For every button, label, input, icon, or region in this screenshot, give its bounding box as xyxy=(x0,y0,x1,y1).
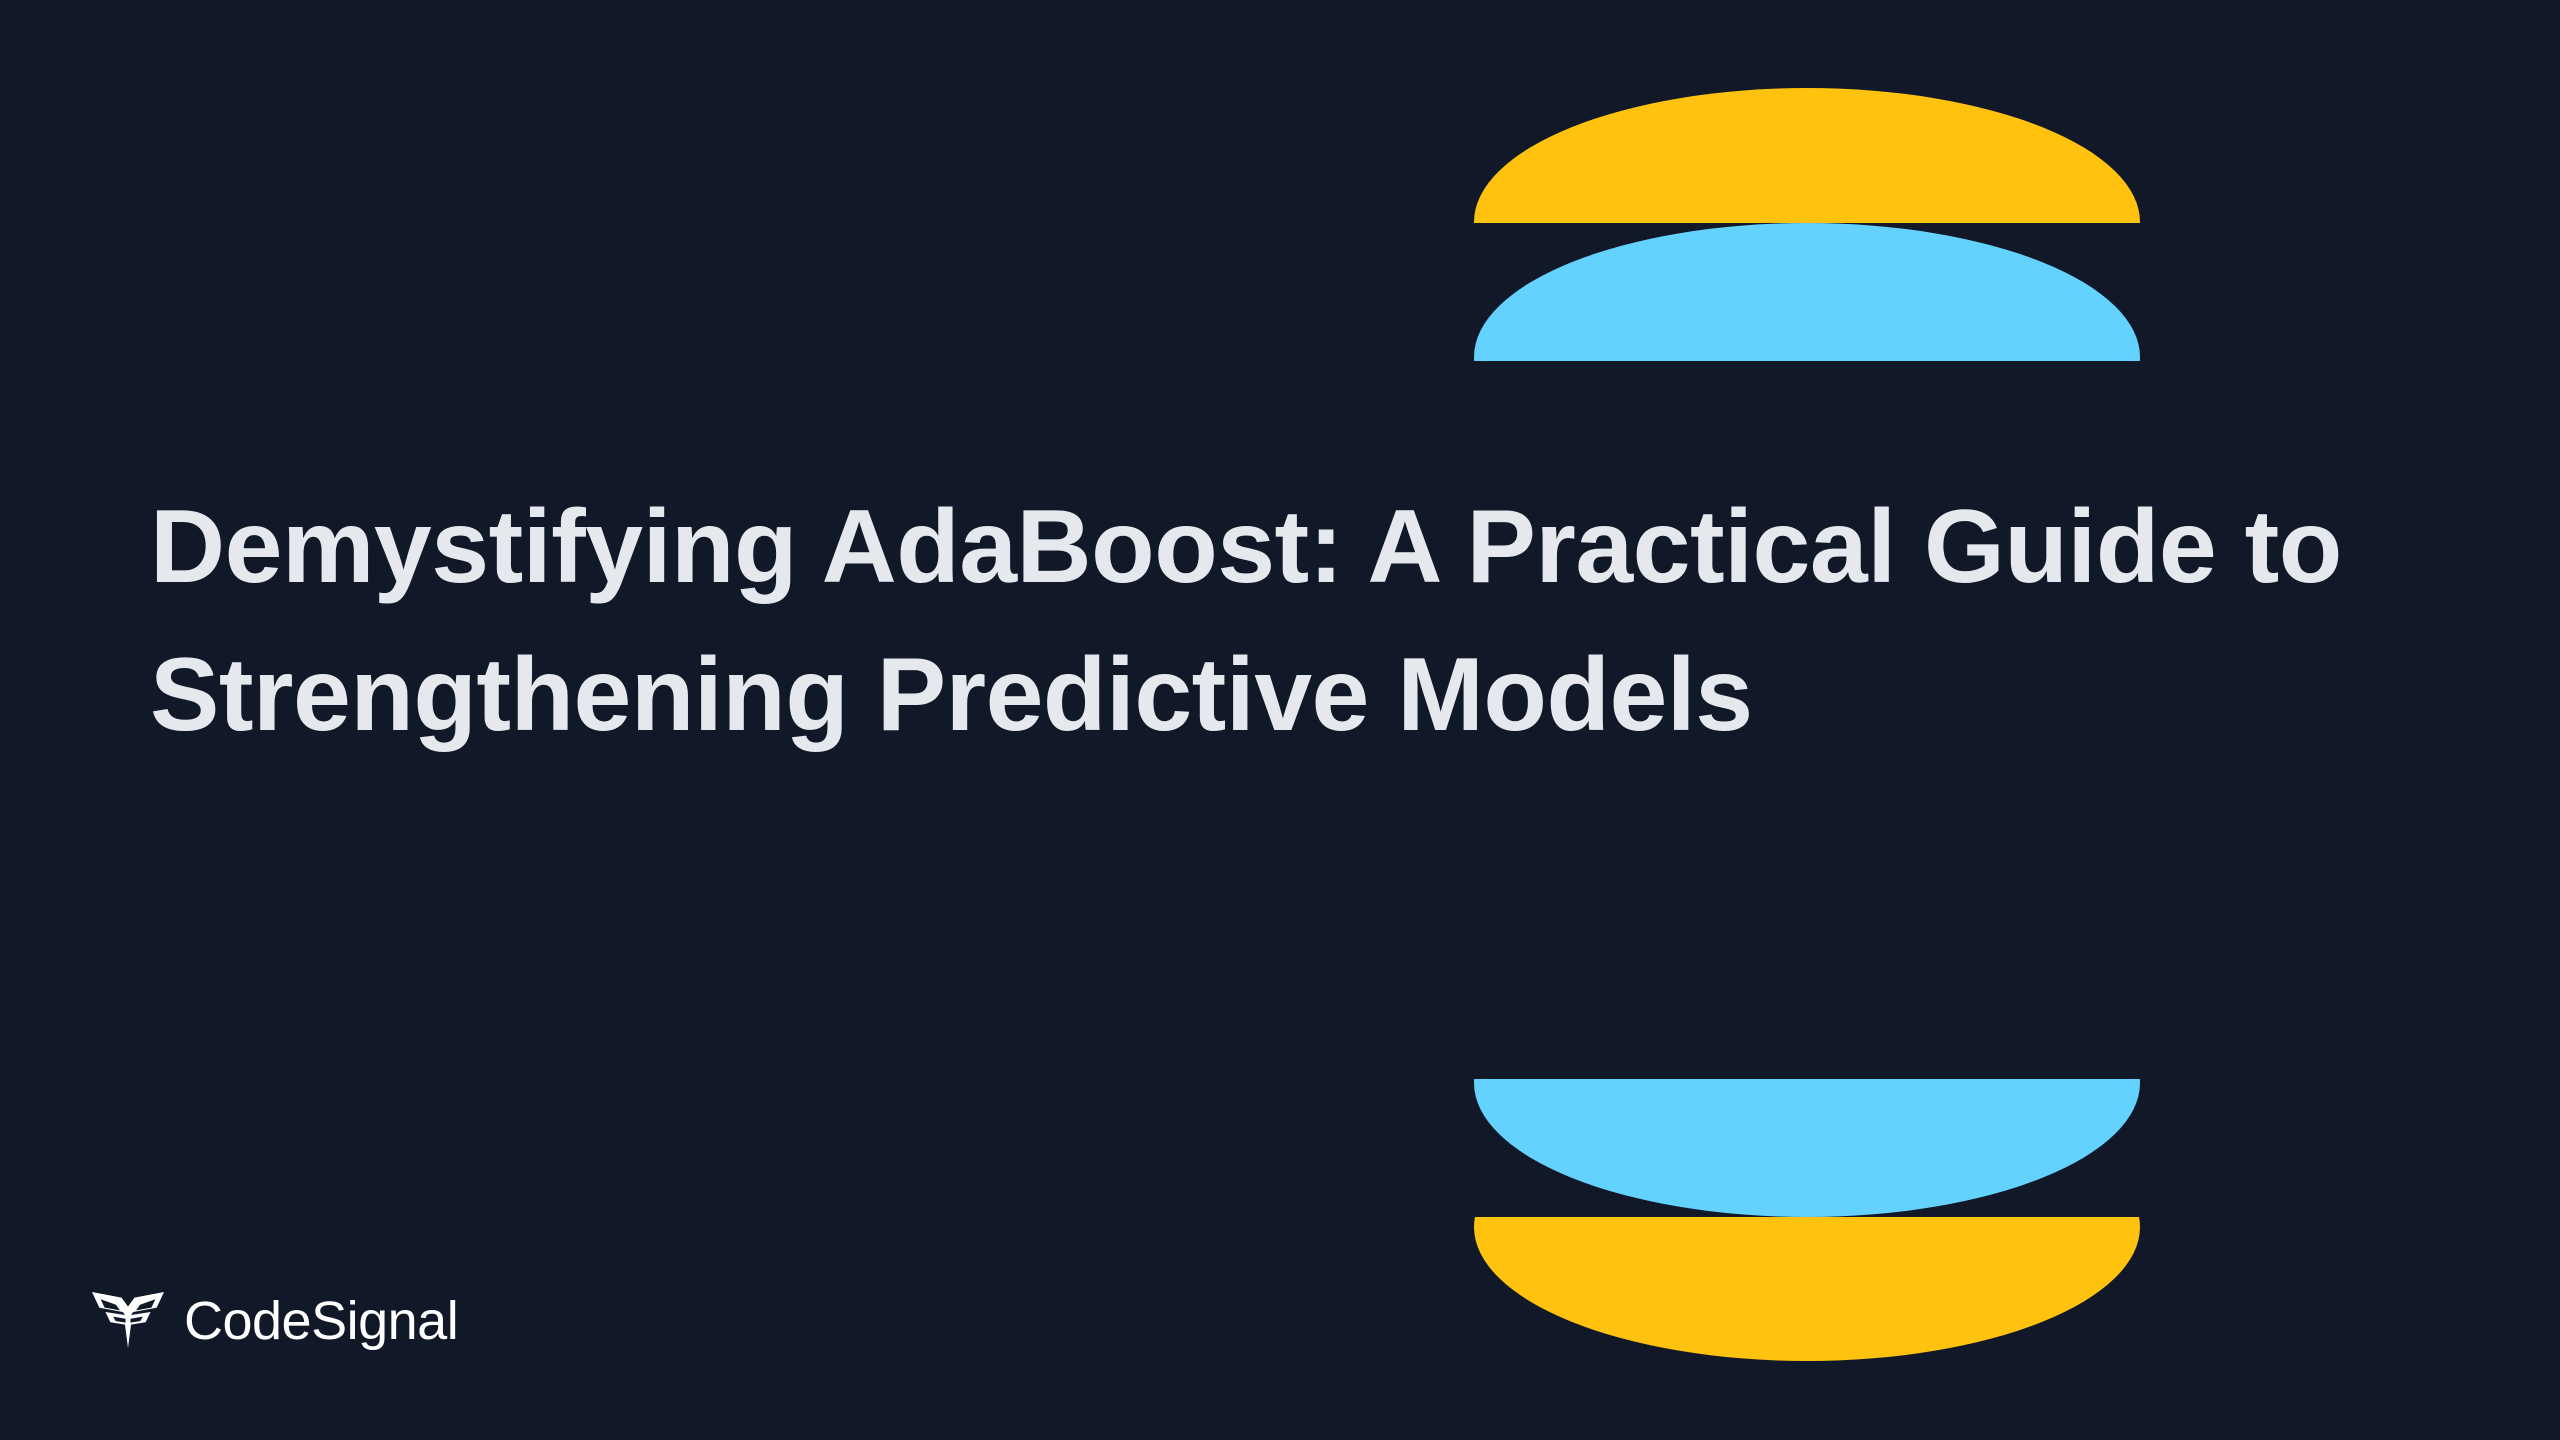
page-title: Demystifying AdaBoost: A Practical Guide… xyxy=(150,474,2350,769)
yellow-bowl-shape xyxy=(1474,1217,2140,1361)
codesignal-logo: CodeSignal xyxy=(90,1286,458,1355)
blue-dome-ellipse xyxy=(1474,223,2140,361)
decoration-top-right xyxy=(1474,88,2140,361)
decoration-bottom-right xyxy=(1474,1079,2140,1361)
yellow-dome-ellipse xyxy=(1474,88,2140,223)
blue-bowl-shape xyxy=(1474,1079,2140,1217)
codesignal-winged-chevron-icon xyxy=(90,1286,166,1355)
blue-dome-shape xyxy=(1474,223,2140,361)
yellow-bowl-ellipse xyxy=(1474,1217,2140,1361)
blue-bowl-ellipse xyxy=(1474,1079,2140,1217)
yellow-dome-shape xyxy=(1474,88,2140,223)
title-slide: Demystifying AdaBoost: A Practical Guide… xyxy=(0,0,2560,1440)
codesignal-wordmark: CodeSignal xyxy=(184,1294,458,1348)
